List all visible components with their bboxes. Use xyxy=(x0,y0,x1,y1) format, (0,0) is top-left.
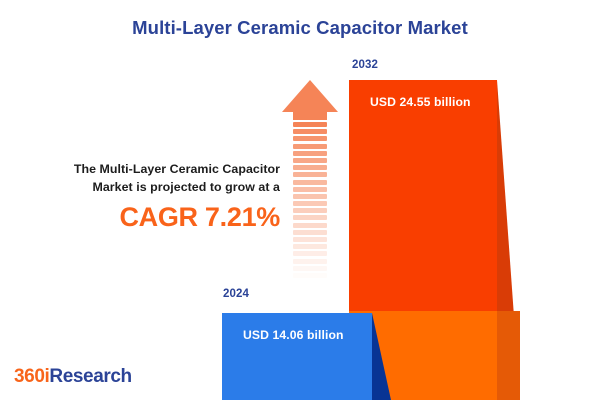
arrow-stripe xyxy=(293,230,327,235)
bar-2024-front-face xyxy=(222,313,372,400)
bar-2032-side-face-lower xyxy=(497,311,520,400)
arrow-stripe xyxy=(293,151,327,156)
arrow-stripe xyxy=(293,251,327,256)
arrow-stripe xyxy=(293,129,327,134)
arrow-stripe xyxy=(293,223,327,228)
arrow-stripes xyxy=(293,122,327,296)
statement-line-2: Market is projected to grow at a xyxy=(8,178,280,196)
arrow-stripe xyxy=(293,187,327,192)
market-growth-infographic: Multi-Layer Ceramic Capacitor Market The… xyxy=(0,0,600,400)
page-title: Multi-Layer Ceramic Capacitor Market xyxy=(0,17,600,39)
logo-text-research: Research xyxy=(49,366,131,387)
bar-value-2024: USD 14.06 billion xyxy=(243,328,344,342)
cagr-value: CAGR 7.21% xyxy=(8,201,280,233)
arrow-stripe xyxy=(293,215,327,220)
arrow-stripe xyxy=(293,280,327,285)
up-arrow-striped-icon xyxy=(282,80,338,296)
arrow-stripe xyxy=(293,237,327,242)
arrow-stripe xyxy=(293,194,327,199)
arrow-stripe xyxy=(293,144,327,149)
arrow-stripe xyxy=(293,266,327,271)
arrow-stripe xyxy=(293,201,327,206)
arrow-stripe xyxy=(293,259,327,264)
arrow-stripe xyxy=(293,180,327,185)
arrow-stripe xyxy=(293,172,327,177)
logo-text-360i: 360i xyxy=(14,366,49,387)
arrow-stripe xyxy=(293,122,327,127)
arrow-stripe xyxy=(293,136,327,141)
statement-line-1: The Multi-Layer Ceramic Capacitor xyxy=(8,160,280,178)
arrow-stripe xyxy=(293,244,327,249)
arrow-stripe xyxy=(293,287,327,292)
arrow-stripe xyxy=(293,165,327,170)
arrow-head-icon xyxy=(282,80,338,112)
bar-label-2032: 2032 xyxy=(352,59,378,71)
arrow-stripe xyxy=(293,208,327,213)
statement-block: The Multi-Layer Ceramic Capacitor Market… xyxy=(8,160,280,233)
arrow-stripe xyxy=(293,158,327,163)
bar-label-2024: 2024 xyxy=(223,288,249,300)
brand-logo: 360iResearch xyxy=(14,366,132,388)
arrow-neck xyxy=(293,112,327,120)
bar-value-2032: USD 24.55 billion xyxy=(370,95,471,109)
arrow-stripe xyxy=(293,273,327,278)
